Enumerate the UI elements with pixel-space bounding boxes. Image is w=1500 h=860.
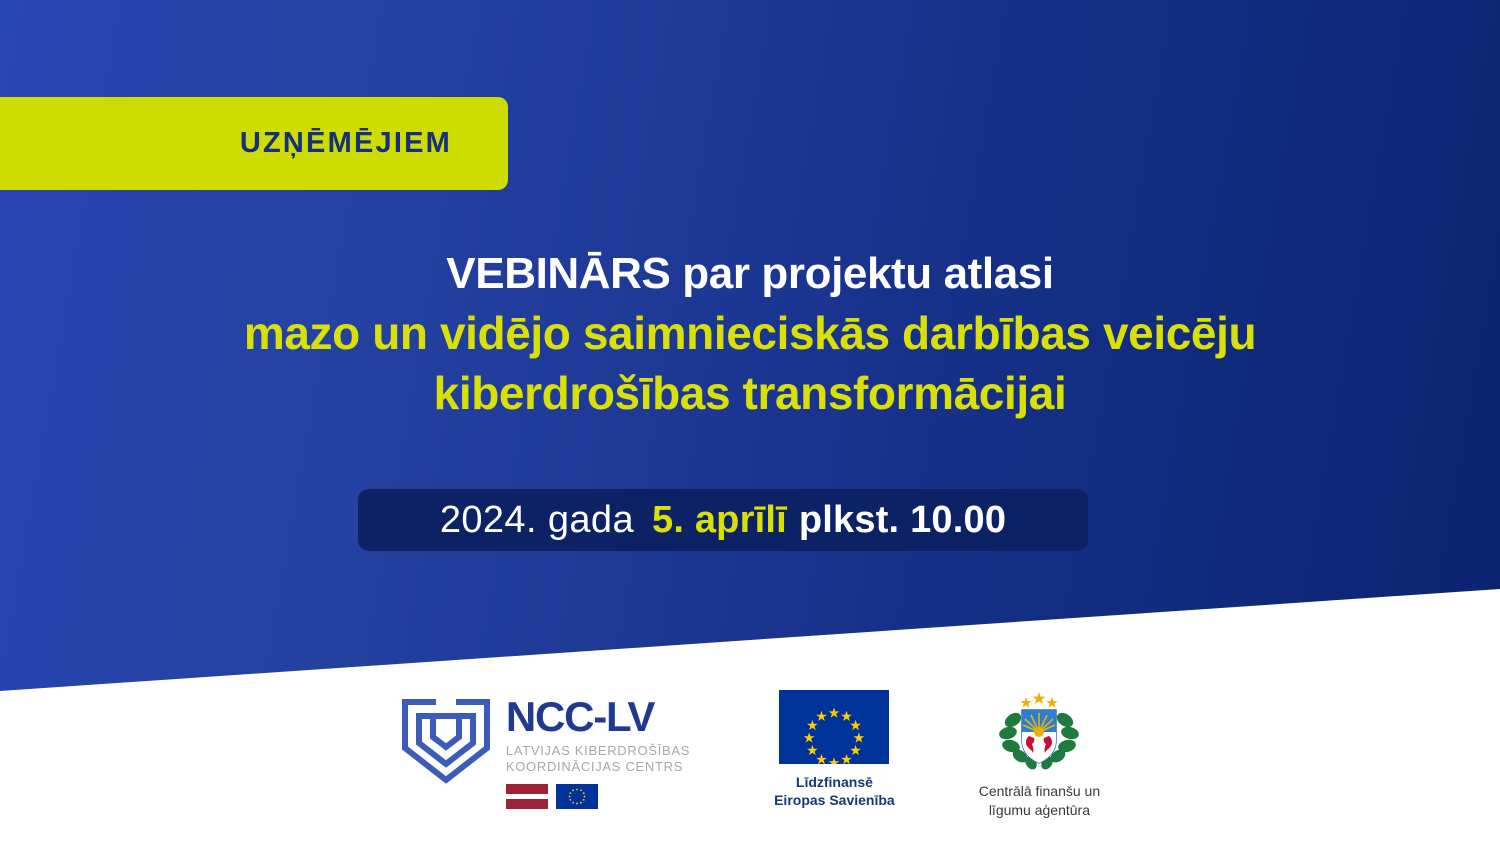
audience-badge-label: UZŅĒMĒJIEM [240,129,452,158]
webinar-promo-banner: UZŅĒMĒJIEM VEBINĀRS par projektu atlasi … [0,0,1500,860]
ncc-lv-flag-row [506,784,690,809]
ncc-lv-title: NCC-LV [506,696,690,738]
event-time-label: plkst. 10.00 [799,499,1006,542]
headline-line-3: kiberdrošības transformācijai [0,366,1500,420]
eu-cofunding-caption: Līdzfinansē Eiropas Savienība [774,773,895,809]
headline-line-1: VEBINĀRS par projektu atlasi [0,248,1500,300]
latvia-flag-icon [506,784,548,809]
cfla-caption: Centrālā finanšu un līgumu aģentūra [979,782,1100,820]
ncc-lv-text-block: NCC-LV LATVIJAS KIBERDROŠĪBAS KOORDINĀCI… [506,696,690,809]
eu-flag-icon [556,784,598,809]
event-day-label: 5. aprīlī [652,499,787,542]
event-datetime-pill: 2024. gada 5. aprīlī plkst. 10.00 [358,489,1088,551]
latvia-coat-of-arms-icon [991,688,1087,776]
eu-cofunding-logo: Līdzfinansē Eiropas Savienība [774,688,895,809]
logo-strip: NCC-LV LATVIJAS KIBERDROŠĪBAS KOORDINĀCI… [0,688,1500,818]
shield-nested-u-icon [400,696,492,784]
headline-block: VEBINĀRS par projektu atlasi mazo un vid… [0,248,1500,420]
ncc-lv-subtitle: LATVIJAS KIBERDROŠĪBAS KOORDINĀCIJAS CEN… [506,743,690,776]
headline-line-2: mazo un vidējo saimnieciskās darbības ve… [0,306,1500,360]
eu-flag-icon [779,690,889,764]
cfla-logo: Centrālā finanšu un līgumu aģentūra [979,688,1100,820]
event-year-label: 2024. gada [440,499,634,542]
ncc-lv-logo: NCC-LV LATVIJAS KIBERDROŠĪBAS KOORDINĀCI… [400,688,690,809]
audience-badge: UZŅĒMĒJIEM [0,97,508,190]
